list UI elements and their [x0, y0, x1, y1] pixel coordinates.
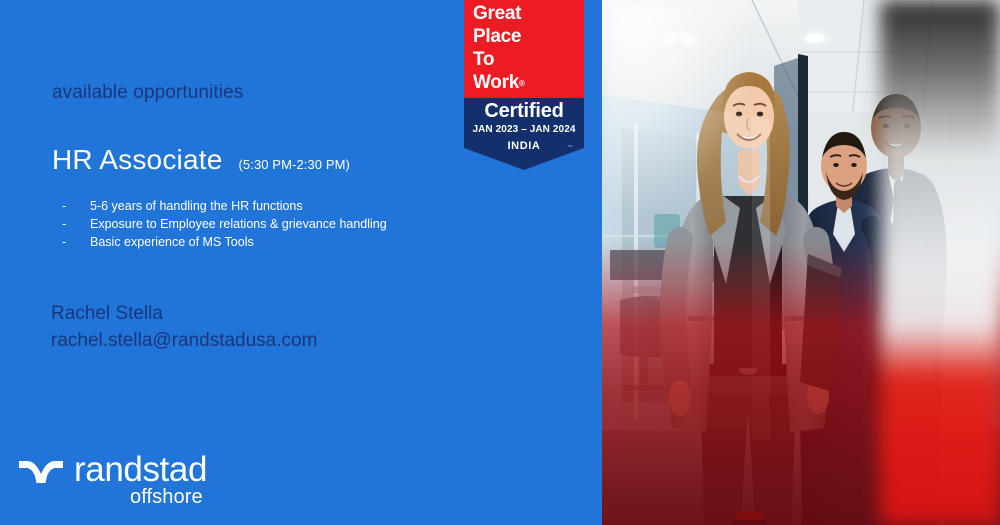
randstad-wordmark: randstad — [74, 450, 207, 490]
bullet-dash: - — [62, 198, 90, 215]
badge-line-3: To — [473, 48, 525, 71]
bullet-dash: - — [62, 234, 90, 251]
trademark-icon: ™ — [567, 145, 573, 151]
contact-name: Rachel Stella — [51, 300, 317, 327]
bullet-dash: - — [62, 216, 90, 233]
contact-block: Rachel Stella rachel.stella@randstadusa.… — [51, 300, 317, 354]
requirement-text: Basic experience of MS Tools — [90, 234, 254, 251]
page-eyebrow: available opportunities — [52, 82, 243, 104]
list-item: - 5-6 years of handling the HR functions — [62, 198, 387, 215]
requirement-text: Exposure to Employee relations & grievan… — [90, 216, 387, 233]
registered-trademark-icon: ® — [519, 79, 525, 88]
randstad-mark-icon — [18, 458, 64, 486]
badge-certified-label: Certified — [464, 100, 584, 123]
badge-line-2: Place — [473, 25, 525, 48]
badge-line-4-text: Work — [473, 72, 519, 93]
list-item: - Basic experience of MS Tools — [62, 234, 387, 251]
page-title: HR Associate — [52, 144, 222, 176]
randstad-logo: randstad offshore — [18, 450, 228, 512]
office-people-photo — [602, 0, 1000, 525]
role-heading: HR Associate (5:30 PM-2:30 PM) — [52, 144, 350, 176]
badge-country: INDIA — [464, 140, 584, 152]
contact-email[interactable]: rachel.stella@randstadusa.com — [51, 327, 317, 354]
badge-validity-dates: JAN 2023 – JAN 2024 — [464, 124, 584, 135]
requirement-text: 5-6 years of handling the HR functions — [90, 198, 303, 215]
great-place-to-work-badge: Great Place To Work® Certified JAN 2023 … — [464, 0, 584, 170]
list-item: - Exposure to Employee relations & griev… — [62, 216, 387, 233]
randstad-sub-wordmark: offshore — [130, 486, 203, 508]
badge-headline: Great Place To Work® — [473, 2, 525, 95]
slide-canvas: available opportunities HR Associate (5:… — [0, 0, 1000, 525]
requirements-list: - 5-6 years of handling the HR functions… — [62, 198, 387, 252]
badge-line-1: Great — [473, 2, 525, 25]
badge-line-4: Work® — [473, 71, 525, 95]
role-shift-timing: (5:30 PM-2:30 PM) — [238, 157, 350, 172]
